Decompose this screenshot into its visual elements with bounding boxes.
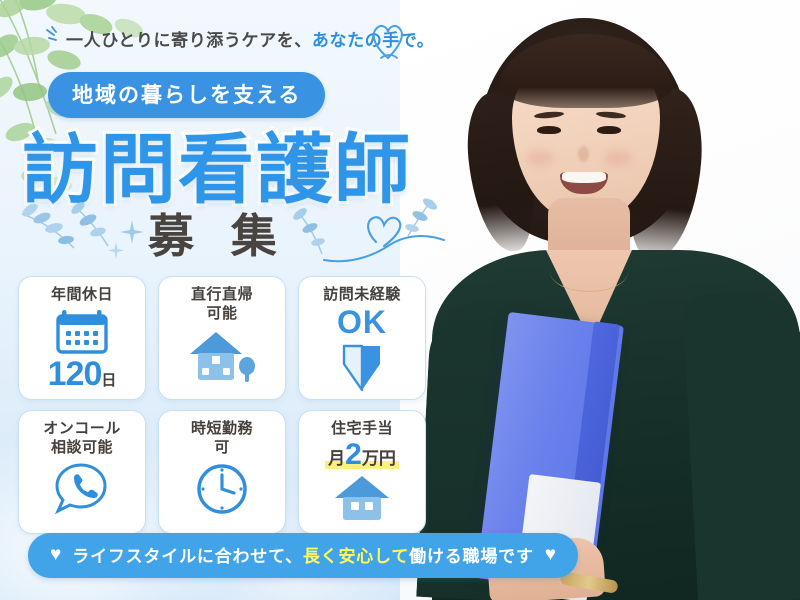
neck bbox=[548, 198, 630, 276]
watercolor-blob-blue-icon bbox=[590, 0, 800, 180]
calendar-icon bbox=[56, 309, 108, 355]
hair-fringe bbox=[500, 34, 672, 108]
feature-card-grid: 年間休日 120日 bbox=[18, 276, 426, 534]
nose bbox=[578, 146, 589, 162]
card-stat-unit: 日 bbox=[101, 372, 116, 389]
house-tree-icon bbox=[186, 328, 258, 384]
hair-left bbox=[462, 89, 542, 255]
card-stat-value: OK bbox=[337, 306, 387, 338]
feature-card-direct-commute[interactable]: 直行直帰 可能 bbox=[158, 276, 286, 400]
ribbon-text-highlight: 長く安心して bbox=[303, 547, 409, 566]
card-label: 住宅手当 bbox=[331, 420, 393, 439]
eyebrow-right bbox=[596, 111, 626, 120]
card-stat: 120日 bbox=[45, 357, 120, 391]
feature-card-annual-holidays[interactable]: 年間休日 120日 bbox=[18, 276, 146, 400]
card-label: 直行直帰 可能 bbox=[191, 286, 253, 324]
hair-back bbox=[478, 18, 690, 244]
necklace bbox=[550, 252, 628, 292]
eye-left bbox=[537, 126, 561, 134]
hand-drawn-heart-outline-icon bbox=[368, 18, 408, 62]
blue-leaf-sprig-right-icon bbox=[398, 196, 438, 240]
card-label: 訪問未経験 bbox=[323, 286, 401, 305]
eye-right bbox=[597, 126, 621, 134]
ribbon-text: ライフスタイルに合わせて、長く安心して働ける職場です bbox=[72, 542, 533, 567]
card-label: 時短勤務 可 bbox=[191, 420, 253, 458]
clock-icon bbox=[195, 462, 249, 516]
card-stat-prefix: 月 bbox=[328, 449, 345, 468]
card-label: 年間休日 bbox=[51, 286, 113, 305]
page-subtitle: 募 集 bbox=[148, 200, 289, 266]
house-icon bbox=[332, 474, 392, 520]
card-label: オンコール 相談可能 bbox=[43, 420, 121, 458]
sparkle-lines-icon bbox=[44, 26, 66, 48]
teeth bbox=[562, 172, 606, 183]
feature-card-housing-allowance[interactable]: 住宅手当 月2万円 bbox=[298, 410, 426, 534]
sweater-arm-right bbox=[682, 289, 800, 600]
card-stat: 月2万円 bbox=[325, 440, 399, 470]
feature-card-oncall-negotiable[interactable]: オンコール 相談可能 bbox=[18, 410, 146, 534]
dot-grid-pattern-icon bbox=[674, 10, 794, 115]
heart-right-icon: ♥ bbox=[545, 545, 556, 564]
feature-card-short-hours[interactable]: 時短勤務 可 bbox=[158, 410, 286, 534]
tagline-main: 一人ひとりに寄り添うケアを、 bbox=[66, 31, 312, 50]
nurse-photo bbox=[400, 0, 800, 600]
card-stat-unit: 万円 bbox=[362, 449, 396, 468]
ribbon-text-after: 働ける職場です bbox=[409, 547, 534, 566]
wrist-bracelet bbox=[559, 571, 618, 594]
bottom-ribbon: ♥ ライフスタイルに合わせて、長く安心して働ける職場です ♥ bbox=[28, 533, 578, 578]
heart-left-icon: ♥ bbox=[50, 545, 61, 564]
card-stat-value: 2 bbox=[345, 438, 362, 471]
cheek-right bbox=[604, 150, 632, 166]
ribbon-text-before: ライフスタイルに合わせて、 bbox=[72, 547, 303, 566]
sweater-v-neckline bbox=[546, 250, 632, 342]
feature-card-no-experience-ok[interactable]: 訪問未経験 OK bbox=[298, 276, 426, 400]
photo-backdrop bbox=[400, 0, 800, 600]
card-stat-value: 120 bbox=[48, 355, 102, 393]
recruitment-banner: 一人ひとりに寄り添うケアを、あなたの手で。 地域の暮らしを支える 訪問看護師 bbox=[0, 0, 800, 600]
hair-right bbox=[621, 85, 708, 263]
beginner-badge-icon bbox=[342, 342, 382, 394]
mouth-smiling bbox=[560, 172, 608, 194]
phone-chat-icon bbox=[54, 462, 110, 516]
eyebrow-left bbox=[534, 111, 564, 120]
cheek-left bbox=[526, 150, 554, 166]
sparkle-stars-icon bbox=[104, 216, 150, 260]
face bbox=[512, 48, 660, 220]
